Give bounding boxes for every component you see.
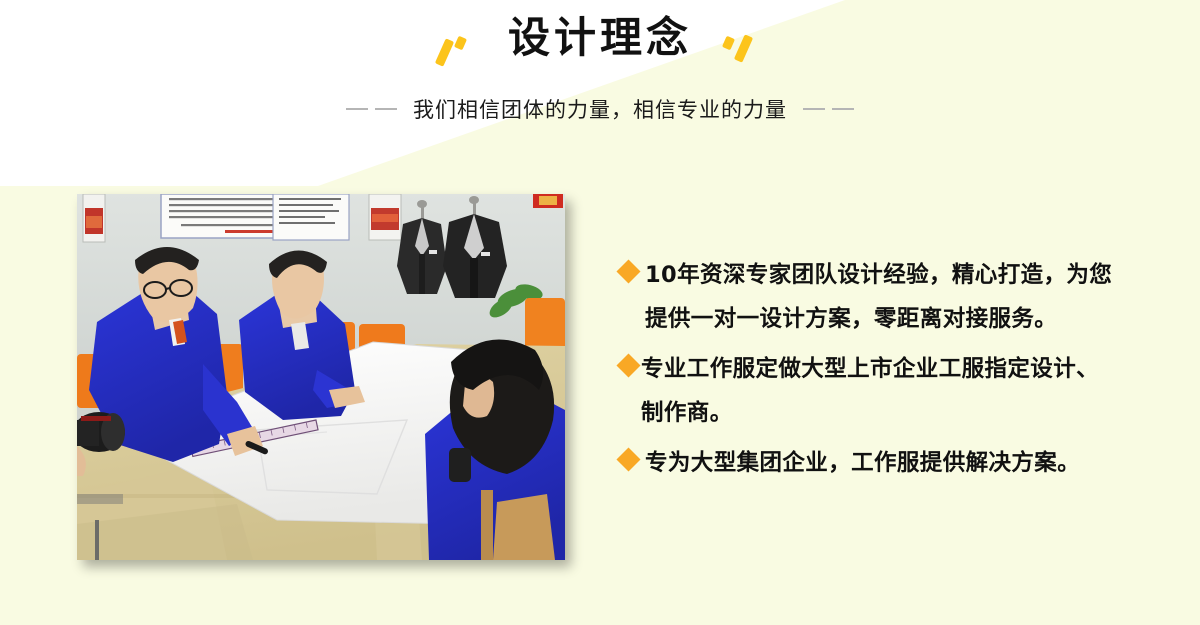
feature-line: 提供一对一设计方案，零距离对接服务。 — [645, 297, 1112, 341]
feature-line: 专为大型集团企业，工作服提供解决方案。 — [645, 441, 1080, 485]
diamond-bullet-icon — [616, 259, 640, 283]
feature-line: 10年资深专家团队设计经验，精心打造，为您 — [645, 253, 1112, 297]
subtitle-row: 我们相信团体的力量，相信专业的力量 — [0, 94, 1200, 124]
dash-ornament-right — [803, 108, 854, 110]
title-row: 设计理念 — [0, 0, 1200, 78]
feature-item-3: 专为大型集团企业，工作服提供解决方案。 — [620, 441, 1165, 485]
banner-header: 设计理念 我们相信团体的力量，相信专业的力量 — [0, 0, 1200, 124]
banner-stage: 设计理念 我们相信团体的力量，相信专业的力量 — [0, 0, 1200, 625]
feature-text-1: 10年资深专家团队设计经验，精心打造，为您 提供一对一设计方案，零距离对接服务。 — [645, 253, 1112, 341]
page-subtitle: 我们相信团体的力量，相信专业的力量 — [413, 94, 787, 124]
feature-list: 10年资深专家团队设计经验，精心打造，为您 提供一对一设计方案，零距离对接服务。… — [620, 253, 1165, 491]
feature-line: 制作商。 — [641, 391, 1099, 435]
page-title: 设计理念 — [508, 17, 692, 59]
dash-ornament-left — [346, 108, 397, 110]
team-photo — [77, 194, 565, 560]
double-slash-icon-left — [436, 29, 482, 75]
feature-item-2: 专业工作服定做大型上市企业工服指定设计、 制作商。 — [620, 347, 1165, 435]
feature-text-3: 专为大型集团企业，工作服提供解决方案。 — [645, 441, 1080, 485]
feature-item-1: 10年资深专家团队设计经验，精心打造，为您 提供一对一设计方案，零距离对接服务。 — [620, 253, 1165, 341]
feature-text-2: 专业工作服定做大型上市企业工服指定设计、 制作商。 — [641, 347, 1099, 435]
double-slash-icon-right — [718, 29, 764, 75]
diamond-bullet-icon — [616, 447, 640, 471]
feature-line: 专业工作服定做大型上市企业工服指定设计、 — [641, 347, 1099, 391]
diamond-bullet-icon — [616, 353, 640, 377]
